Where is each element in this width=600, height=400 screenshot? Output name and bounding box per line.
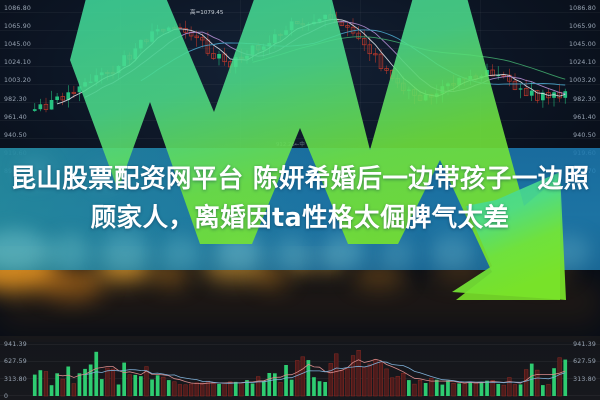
- banner-image: 1086.801065.901045.001024.101003.20982.3…: [0, 0, 600, 400]
- headline-line-2: 顾家人，离婚因ta性格太倔脾气太差: [0, 199, 600, 238]
- headline-line-1: 昆山股票配资网平台 陈妍希婚后一边带孩子一边照: [0, 160, 600, 199]
- headline: 昆山股票配资网平台 陈妍希婚后一边带孩子一边照 顾家人，离婚因ta性格太倔脾气太…: [0, 160, 600, 238]
